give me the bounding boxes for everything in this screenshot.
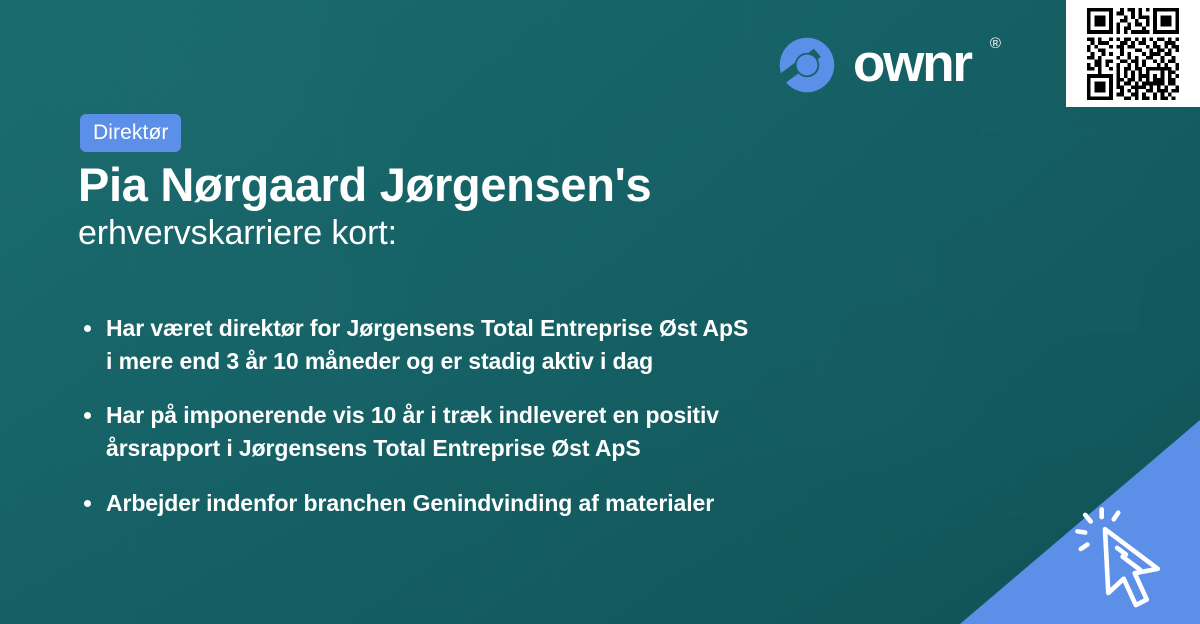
registered-trademark-icon: ® bbox=[990, 36, 1001, 51]
list-item-line-2: i mere end 3 år 10 måneder og er stadig … bbox=[106, 348, 653, 374]
list-item-line-2: årsrapport i Jørgensens Total Entreprise… bbox=[106, 435, 641, 461]
page-subtitle: erhvervskarriere kort: bbox=[78, 213, 397, 254]
card-content: Direktør Pia Nørgaard Jørgensen's erhver… bbox=[0, 0, 1200, 624]
corner-triangle bbox=[900, 420, 1200, 624]
click-cursor-icon bbox=[1072, 504, 1182, 616]
bullet-dot-icon bbox=[84, 500, 91, 507]
role-badge: Direktør bbox=[80, 114, 181, 152]
corner-decoration bbox=[900, 420, 1200, 624]
list-item-line-1: Arbejder indenfor branchen Genindvinding… bbox=[106, 490, 714, 516]
list-item-line-1: Har været direktør for Jørgensens Total … bbox=[106, 315, 748, 341]
bullet-dot-icon bbox=[84, 412, 91, 419]
career-card: Direktør Pia Nørgaard Jørgensen's erhver… bbox=[0, 0, 1200, 624]
list-item: Arbejder indenfor branchen Genindvinding… bbox=[80, 487, 880, 520]
page-title: Pia Nørgaard Jørgensen's bbox=[78, 158, 651, 213]
ownr-circle-mark-icon bbox=[778, 36, 836, 94]
ownr-logo[interactable]: ownr ® bbox=[778, 36, 999, 94]
qr-code[interactable] bbox=[1066, 0, 1200, 107]
ownr-wordmark: ownr bbox=[853, 37, 971, 90]
list-item: Har på imponerende vis 10 år i træk indl… bbox=[80, 399, 880, 464]
bullet-dot-icon bbox=[84, 325, 91, 332]
list-item-line-1: Har på imponerende vis 10 år i træk indl… bbox=[106, 402, 719, 428]
career-highlights-list: Har været direktør for Jørgensens Total … bbox=[80, 312, 880, 519]
list-item: Har været direktør for Jørgensens Total … bbox=[80, 312, 880, 377]
